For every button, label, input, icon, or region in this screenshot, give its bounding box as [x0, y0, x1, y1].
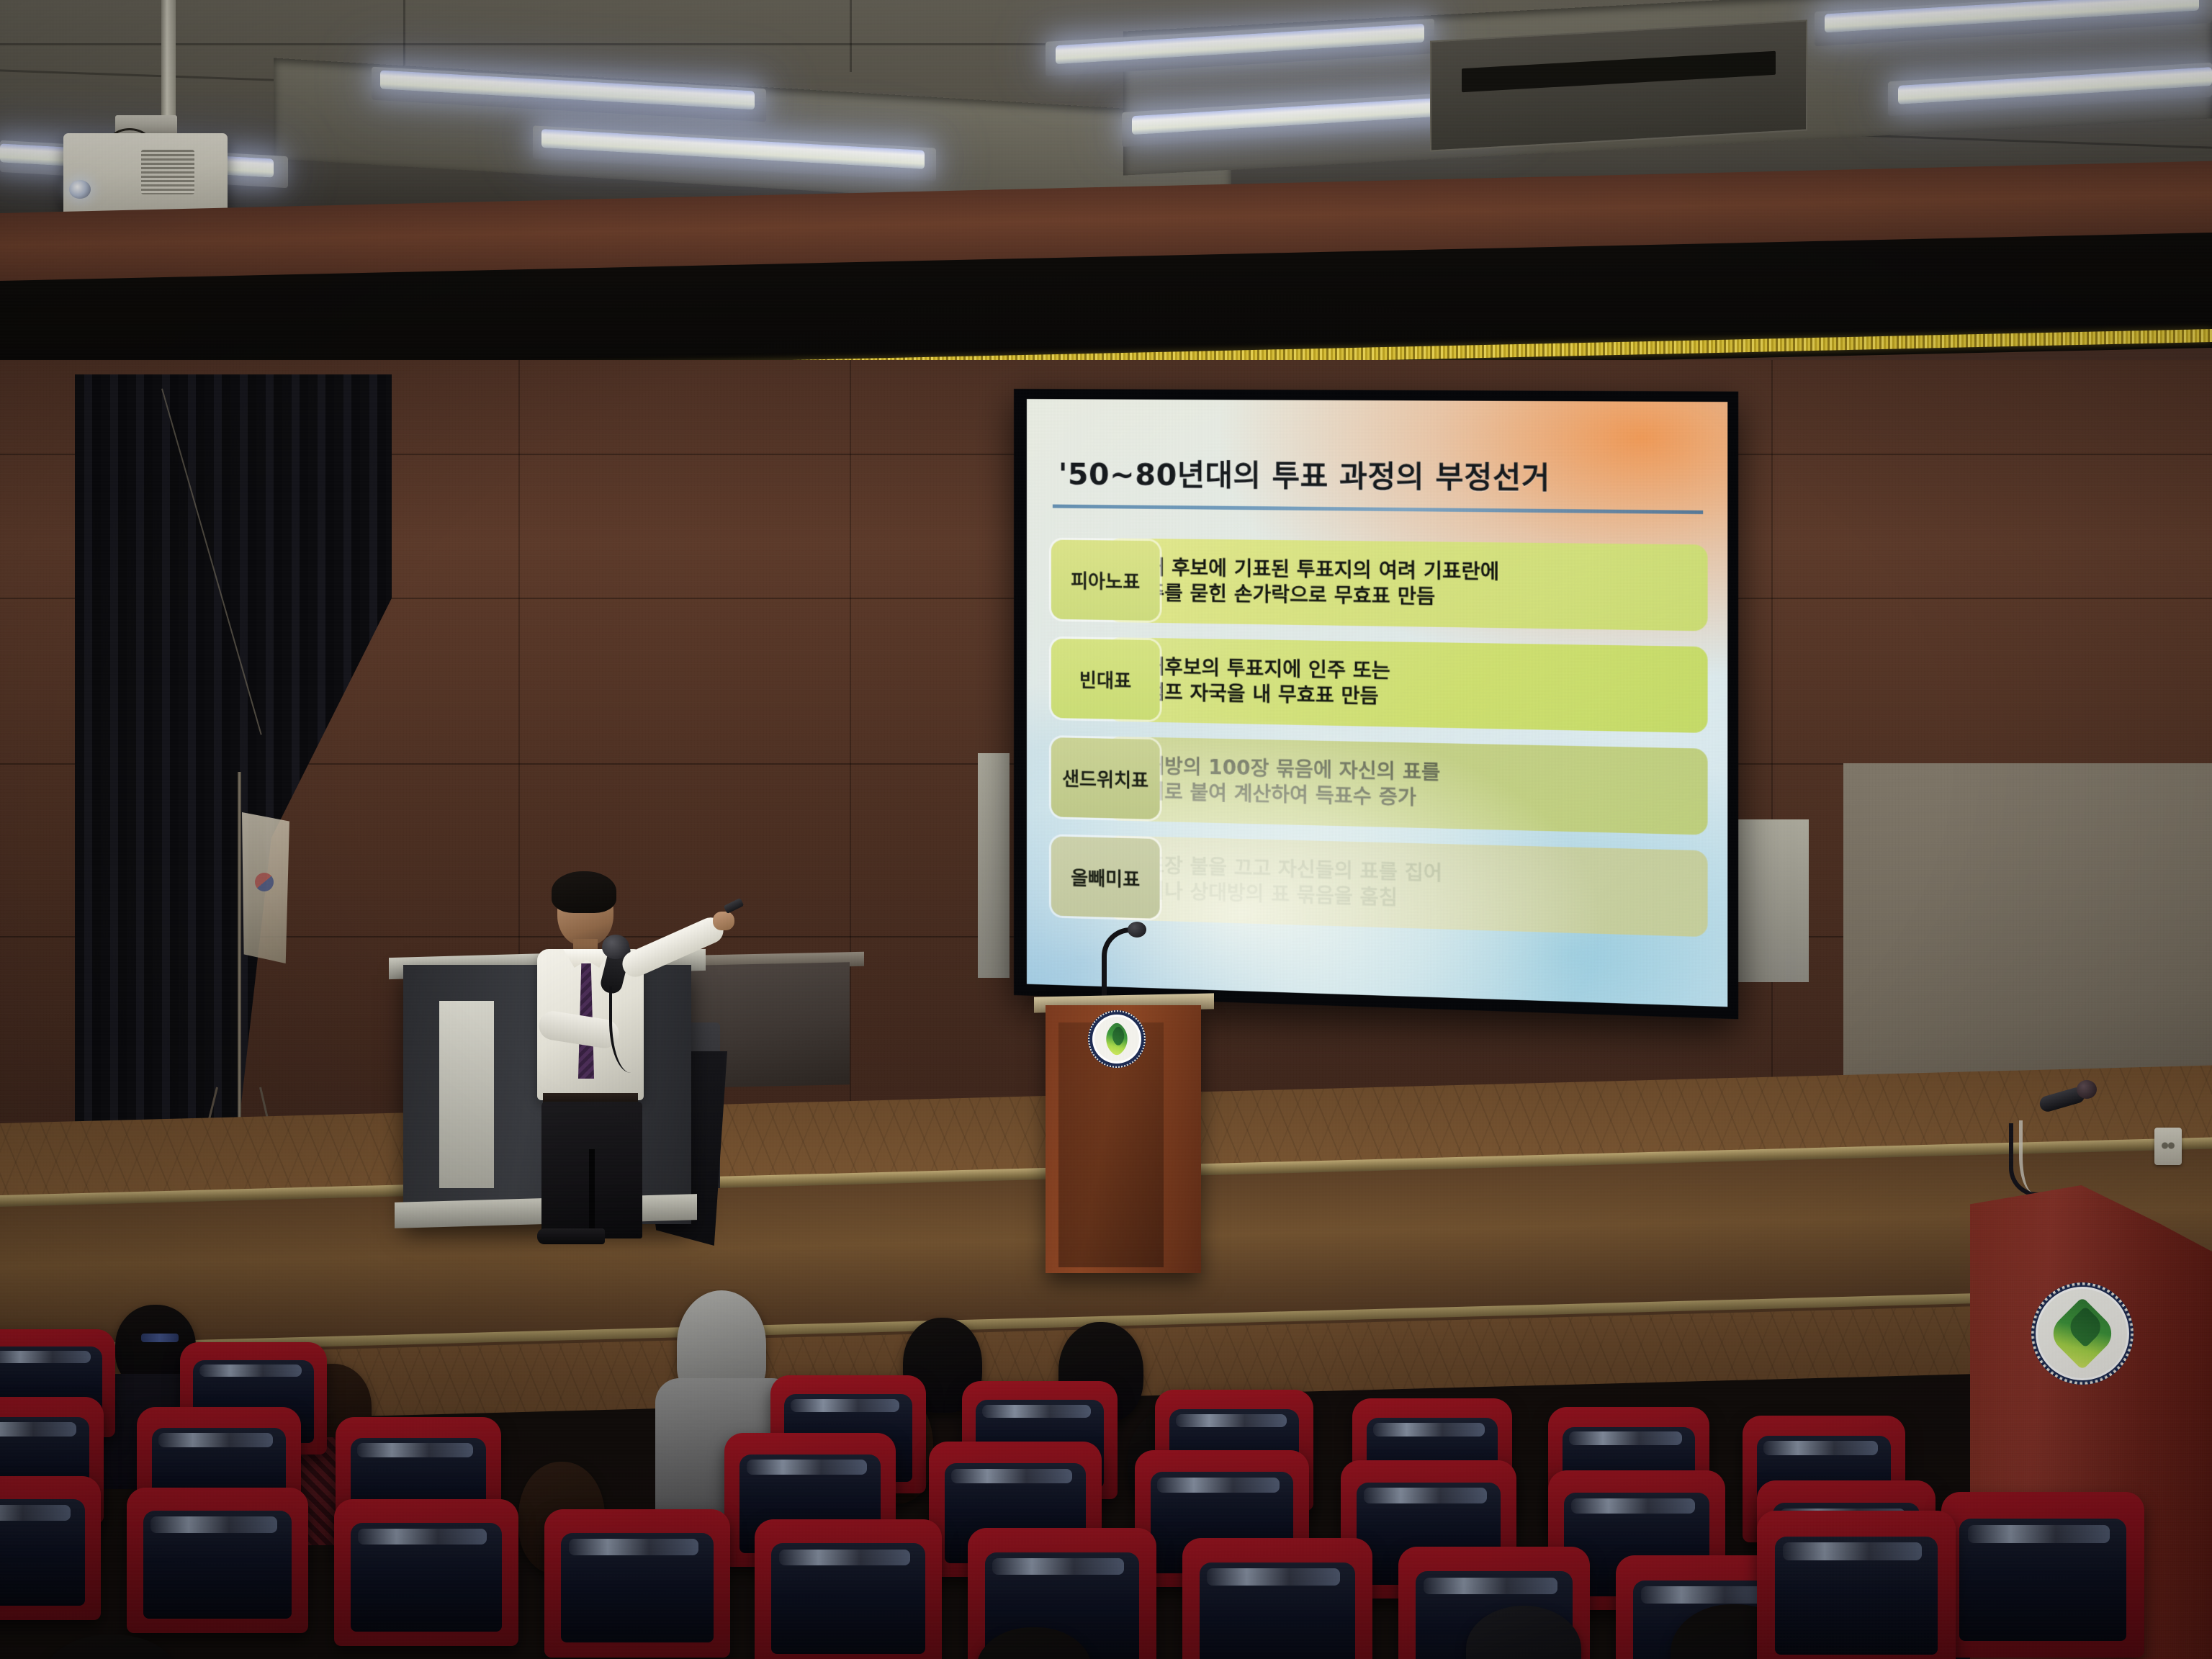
control-podium-panel — [439, 1001, 494, 1188]
presenter-hand — [713, 912, 734, 930]
presenter-shoe — [537, 1228, 605, 1244]
slide-row: 개표장 불을 끄고 자신들의 표를 집어 넣거나 상대방의 표 묶음을 훔침 올… — [1051, 831, 1708, 940]
slide-row: 상대후보의 투표지에 인주 또는 스탬프 자국을 내 무효표 만듬 빈대표 — [1051, 634, 1708, 736]
lectern-microphone-icon — [1128, 922, 1146, 938]
slide-row-label: 올빼미표 — [1051, 836, 1160, 919]
slide-title-rule — [1053, 504, 1703, 514]
glasses-icon — [141, 1334, 179, 1342]
auditorium-seat[interactable] — [1941, 1492, 2144, 1658]
slide-row-body: 상대후보의 투표지에 인주 또는 스탬프 자국을 내 무효표 만듬 — [1107, 637, 1708, 733]
slide-rows: 상대 후보에 기표된 투표지의 여려 기표란에 인주를 묻힌 손가락으로 무효표… — [1051, 535, 1708, 950]
slide-title: '50~80년대의 투표 과정의 부정선거 — [1058, 449, 1682, 498]
projection-screen: '50~80년대의 투표 과정의 부정선거 상대 후보에 기표된 투표지의 여려… — [1027, 399, 1727, 1007]
flag-pole — [238, 772, 241, 1132]
auditorium-seat[interactable] — [1182, 1538, 1372, 1659]
slide-row-label: 피아노표 — [1051, 540, 1160, 621]
institution-emblem — [1094, 1017, 1139, 1061]
projector-vent-grille — [141, 150, 194, 194]
attendee-head — [43, 1635, 180, 1659]
presenter-hair — [552, 871, 616, 913]
auditorium-seat[interactable] — [334, 1499, 518, 1646]
screen-side-strip — [1731, 819, 1809, 982]
microphone-head-icon — [2077, 1080, 2097, 1099]
auditorium-seat[interactable] — [127, 1488, 308, 1633]
slide-row-label: 샌드위치표 — [1051, 737, 1160, 819]
auditorium-seat[interactable] — [1757, 1511, 1956, 1659]
auditorium-seat[interactable] — [544, 1509, 730, 1658]
presenter — [497, 864, 734, 1224]
presenter-right-arm — [619, 914, 728, 981]
slide-row-body: 상대 후보에 기표된 투표지의 여려 기표란에 인주를 묻힌 손가락으로 무효표… — [1107, 538, 1708, 631]
slide-row-body: 개표장 불을 끄고 자신들의 표를 집어 넣거나 상대방의 표 묶음을 훔침 — [1107, 835, 1708, 937]
institution-emblem — [2038, 1289, 2127, 1378]
front-lectern-mic-cable — [2019, 1120, 2047, 1192]
slide-row: 상대방의 100장 묶음에 자신의 표를 앞뒤로 붙여 계산하여 득표수 증가 … — [1051, 732, 1708, 838]
screen-side-strip — [978, 753, 1010, 978]
projection-screen-frame: '50~80년대의 투표 과정의 부정선거 상대 후보에 기표된 투표지의 여려… — [1014, 389, 1738, 1019]
slide-row: 상대 후보에 기표된 투표지의 여려 기표란에 인주를 묻힌 손가락으로 무효표… — [1051, 535, 1708, 634]
auditorium-seat[interactable] — [0, 1476, 101, 1620]
hvac-vent — [1430, 19, 1807, 151]
slide-row-label: 빈대표 — [1051, 639, 1160, 720]
auditorium-scene: '50~80년대의 투표 과정의 부정선거 상대 후보에 기표된 투표지의 여려… — [0, 0, 2212, 1659]
projector-lens — [69, 180, 91, 199]
power-outlet[interactable] — [2154, 1128, 2182, 1165]
auditorium-seat[interactable] — [755, 1519, 942, 1659]
presenter-leg-gap — [589, 1149, 595, 1238]
slide-row-body: 상대방의 100장 묶음에 자신의 표를 앞뒤로 붙여 계산하여 득표수 증가 — [1107, 737, 1708, 835]
taeguk-symbol-icon — [255, 873, 274, 891]
